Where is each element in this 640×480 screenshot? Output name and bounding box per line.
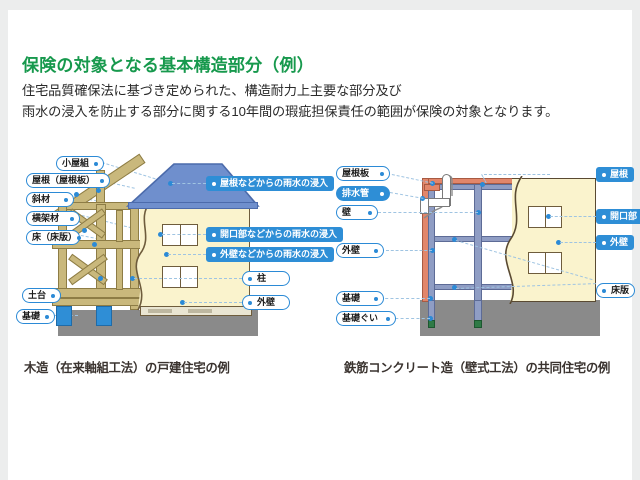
label-yane-text: 屋根 xyxy=(32,176,50,185)
label-dot xyxy=(212,253,216,257)
label-dot xyxy=(374,249,378,253)
label-wall-rain-text: 外壁などからの雨水の浸入 xyxy=(220,250,328,259)
label-kiso[interactable]: 基礎 xyxy=(16,309,55,324)
node-koyagumi xyxy=(96,188,101,193)
label-yuka[interactable]: 床 （床版） xyxy=(26,230,80,245)
label-dot xyxy=(368,211,372,215)
label-yaneita[interactable]: 屋根板 xyxy=(336,166,390,181)
leader-gaiheki-l xyxy=(386,250,432,251)
ground-right xyxy=(420,300,600,336)
label-dot xyxy=(45,315,49,319)
label-dot xyxy=(212,233,216,237)
wooden-house-diagram: 小屋組 屋根 （屋根板） 斜材 横架材 床 xyxy=(12,148,324,353)
leader-kaikoubu xyxy=(550,216,596,217)
label-gaiheki[interactable]: 外壁 xyxy=(242,295,290,310)
label-dot xyxy=(77,236,81,240)
label-gaiheki-left-text: 外壁 xyxy=(342,246,360,255)
label-hashira[interactable]: 柱 xyxy=(242,271,290,286)
description-line-1: 住宅品質確保法に基づき定められた、構造耐力上主要な部分及び xyxy=(22,81,622,101)
label-opening-rain[interactable]: 開口部などからの雨水の浸入 xyxy=(206,227,343,242)
label-dot xyxy=(602,241,606,245)
vent-slot-1 xyxy=(148,309,172,313)
label-wall-rain[interactable]: 外壁などからの雨水の浸入 xyxy=(206,247,334,262)
label-yukaban[interactable]: 床版 xyxy=(596,283,635,298)
label-dot xyxy=(70,217,74,221)
node-roof-r xyxy=(480,182,485,187)
node-shazai xyxy=(82,228,87,233)
label-dot xyxy=(248,301,252,305)
label-dot xyxy=(94,162,98,166)
label-oukazai-text: 横架材 xyxy=(32,214,59,223)
label-kabe-text: 壁 xyxy=(342,208,351,217)
label-hashira-text: 柱 xyxy=(257,274,266,283)
label-oukazai[interactable]: 横架材 xyxy=(26,211,80,226)
label-koyagumi-text: 小屋組 xyxy=(62,159,89,168)
label-kisogui[interactable]: 基礎ぐい xyxy=(336,311,396,326)
label-haisuikan-text: 排水管 xyxy=(342,189,369,198)
label-kabe[interactable]: 壁 xyxy=(336,205,378,220)
header-block: 保険の対象となる基本構造部分（例） 住宅品質確保法に基づき定められた、構造耐力上… xyxy=(22,56,622,123)
label-dot xyxy=(602,215,606,219)
label-kaikoubu-text: 開口部 xyxy=(610,212,637,221)
label-dot xyxy=(380,172,384,176)
label-kaikoubu[interactable]: 開口部 xyxy=(596,209,640,224)
label-gaiheki-right-text: 外壁 xyxy=(610,238,628,247)
label-koyagumi[interactable]: 小屋組 xyxy=(56,156,104,171)
label-kiso-right-diagram[interactable]: 基礎 xyxy=(336,291,384,306)
node-oukazai xyxy=(92,242,97,247)
content-card: 保険の対象となる基本構造部分（例） 住宅品質確保法に基づき定められた、構造耐力上… xyxy=(8,10,632,480)
label-dot xyxy=(248,277,252,281)
label-shazai-text: 斜材 xyxy=(32,195,50,204)
foundation-pier-1 xyxy=(56,306,72,326)
pile-tip-left xyxy=(428,320,435,328)
label-yukaban-text: 床版 xyxy=(611,286,629,295)
caption-rc-building: 鉄筋コンクリート造（壁式工法）の共同住宅の例 xyxy=(344,358,610,376)
label-yane-right[interactable]: 屋根 xyxy=(596,167,634,182)
label-dodai[interactable]: 土台 xyxy=(22,288,61,303)
label-dot xyxy=(602,173,606,177)
label-yuka-text: 床 xyxy=(32,233,41,242)
label-dodai-text: 土台 xyxy=(28,291,46,300)
foundation-pier-2 xyxy=(96,306,112,326)
label-roof-rain-text: 屋根などからの雨水の浸入 xyxy=(220,179,328,188)
roof-eave-band xyxy=(128,202,258,209)
node-yane xyxy=(74,192,79,197)
label-dot xyxy=(386,317,390,321)
label-opening-rain-text: 開口部などからの雨水の浸入 xyxy=(220,230,337,239)
page-title: 保険の対象となる基本構造部分（例） xyxy=(22,56,622,76)
leader-opening-rain xyxy=(162,234,206,235)
label-yuka-subtext: （床版） xyxy=(41,233,77,242)
label-dot xyxy=(380,192,384,196)
vent-slot-2 xyxy=(188,309,212,313)
node-yuka xyxy=(98,276,103,281)
label-yane-subtext: （屋根板） xyxy=(50,176,95,185)
label-yaneita-text: 屋根板 xyxy=(342,169,369,178)
label-roof-rain[interactable]: 屋根などからの雨水の浸入 xyxy=(206,176,334,191)
pile-tip-mid xyxy=(474,320,482,328)
window-upper xyxy=(162,224,198,246)
label-gaiheki-right[interactable]: 外壁 xyxy=(596,235,634,250)
rc-window-upper xyxy=(528,206,562,228)
cutaway-edge xyxy=(128,202,158,312)
leader-kabe xyxy=(378,212,478,213)
label-kiso-text: 基礎 xyxy=(22,312,40,321)
label-dot xyxy=(100,179,104,183)
label-dot xyxy=(374,297,378,301)
rc-building-diagram: 屋根板 排水管 壁 外壁 基礎 xyxy=(324,148,632,353)
leader-roof-rain xyxy=(172,183,206,184)
leader-gaiheki xyxy=(184,302,242,303)
label-gaiheki-left[interactable]: 外壁 xyxy=(336,243,384,258)
label-yane-right-text: 屋根 xyxy=(610,170,628,179)
description-line-2: 雨水の浸入を防止する部分に関する10年間の瑕疵担保責任の範囲が保険の対象となりま… xyxy=(22,102,622,122)
label-dot xyxy=(212,182,216,186)
label-dot xyxy=(51,294,55,298)
leader-gaiheki-r xyxy=(560,242,596,243)
leader-kiso-l xyxy=(380,298,430,299)
label-kiso-text: 基礎 xyxy=(342,294,360,303)
wall-mid xyxy=(474,184,482,302)
label-yane[interactable]: 屋根 （屋根板） xyxy=(26,173,110,188)
window-lower xyxy=(162,266,198,288)
leader-roof-r xyxy=(484,174,550,175)
label-dot xyxy=(602,289,606,293)
leader-kisogui xyxy=(390,318,430,319)
stud-upper xyxy=(116,210,123,242)
label-shazai[interactable]: 斜材 xyxy=(26,192,74,207)
leader-hashira xyxy=(134,278,242,279)
screenshot-root: 保険の対象となる基本構造部分（例） 住宅品質確保法に基づき定められた、構造耐力上… xyxy=(0,0,640,480)
label-dot xyxy=(64,198,68,202)
stud-lower xyxy=(116,248,123,290)
label-gaiheki-text: 外壁 xyxy=(257,298,275,307)
label-kisogui-text: 基礎ぐい xyxy=(342,314,378,323)
leader-wall-rain xyxy=(168,254,206,255)
caption-wooden-house: 木造（在来軸組工法）の戸建住宅の例 xyxy=(24,358,230,376)
diagram-stage: 小屋組 屋根 （屋根板） 斜材 横架材 床 xyxy=(8,148,632,353)
label-haisuikan[interactable]: 排水管 xyxy=(336,186,390,201)
